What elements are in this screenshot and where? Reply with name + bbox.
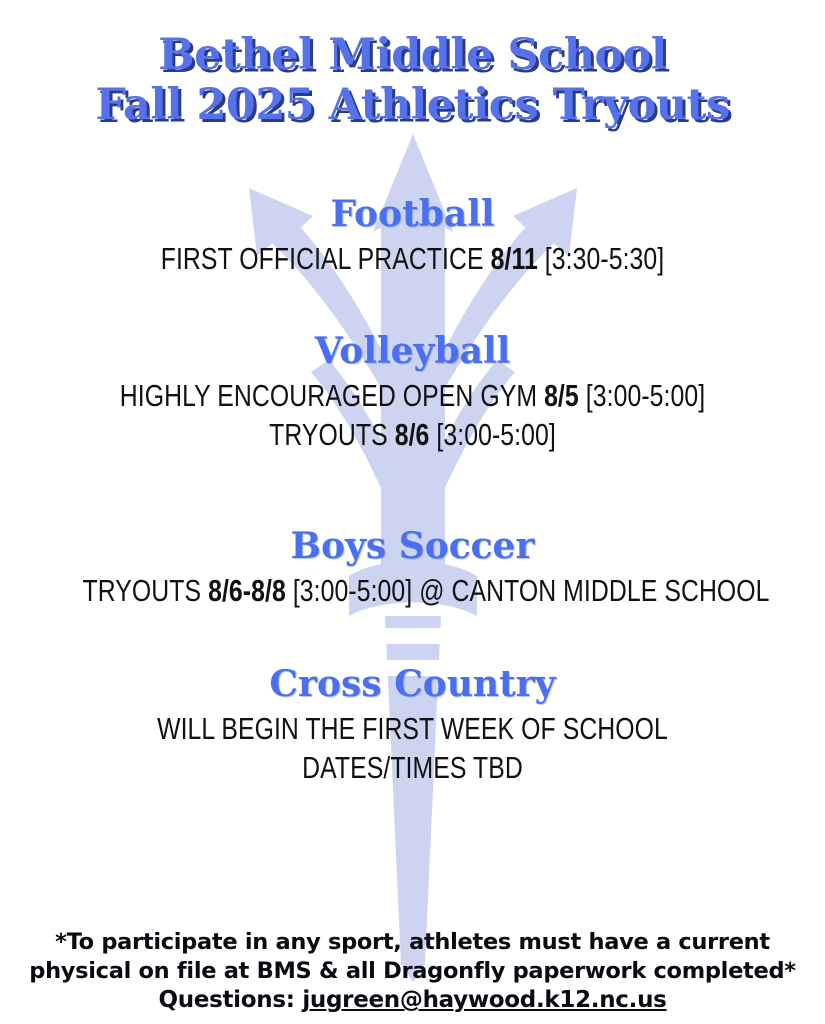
detail-time: [3:30-5:30] [538,241,664,276]
sport-heading-football: Football [0,196,825,234]
athletics-tryouts-poster: Bethel Middle School Fall 2025 Athletics… [0,0,825,1024]
detail-date: 8/6-8/8 [208,573,286,608]
section-cross-country: Cross Country WILL BEGIN THE FIRST WEEK … [0,666,825,788]
section-boys-soccer: Boys Soccer TRYOUTS 8/6-8/8 [3:00-5:00] … [0,528,825,610]
detail-label: FIRST OFFICIAL PRACTICE [161,241,491,276]
detail-label: DATES/TIMES TBD [302,750,523,785]
section-volleyball: Volleyball HIGHLY ENCOURAGED OPEN GYM 8/… [0,333,825,455]
detail-line: FIRST OFFICIAL PRACTICE 8/11 [3:30-5:30] [83,239,743,279]
detail-label: WILL BEGIN THE FIRST WEEK OF SCHOOL [157,711,668,746]
detail-time: [3:00-5:00] @ CANTON MIDDLE SCHOOL [286,573,770,608]
footer-questions-line: Questions: jugreen@haywood.k12.nc.us [0,986,825,1016]
detail-label: TRYOUTS [83,573,209,608]
footer-note-line-2: physical on file at BMS & all Dragonfly … [0,957,825,986]
detail-label: HIGHLY ENCOURAGED OPEN GYM [120,378,544,413]
detail-line: WILL BEGIN THE FIRST WEEK OF SCHOOL [83,709,743,749]
sport-heading-volleyball: Volleyball [0,333,825,371]
detail-date: 8/5 [544,378,579,413]
detail-time: [3:00-5:00] [429,417,555,452]
contact-email-link[interactable]: jugreen@haywood.k12.nc.us [302,987,666,1013]
footer-note-line-1: *To participate in any sport, athletes m… [0,928,825,957]
detail-date: 8/11 [491,241,538,276]
detail-label: TRYOUTS [269,417,395,452]
detail-line: HIGHLY ENCOURAGED OPEN GYM 8/5 [3:00-5:0… [83,376,743,416]
poster-content: Bethel Middle School Fall 2025 Athletics… [0,0,825,1024]
footer-note: *To participate in any sport, athletes m… [0,928,825,1016]
poster-title: Bethel Middle School Fall 2025 Athletics… [0,34,825,128]
questions-label: Questions: [158,987,302,1013]
detail-time: [3:00-5:00] [579,378,705,413]
sport-heading-boys-soccer: Boys Soccer [0,528,825,566]
section-football: Football FIRST OFFICIAL PRACTICE 8/11 [3… [0,196,825,278]
sport-heading-cross-country: Cross Country [0,666,825,704]
detail-line: DATES/TIMES TBD [83,748,743,788]
detail-line: TRYOUTS 8/6 [3:00-5:00] [83,415,743,455]
title-line-1: Bethel Middle School [0,34,825,78]
title-line-2: Fall 2025 Athletics Tryouts [0,84,825,128]
detail-line: TRYOUTS 8/6-8/8 [3:00-5:00] @ CANTON MID… [83,571,743,611]
detail-date: 8/6 [395,417,430,452]
